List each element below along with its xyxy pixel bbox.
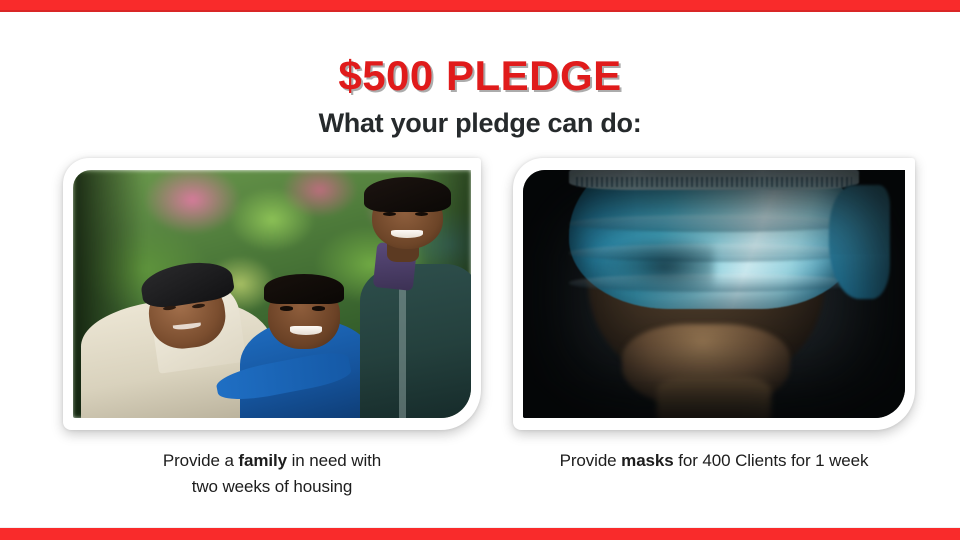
slide-root: $500 PLEDGE What your pledge can do: (0, 0, 960, 540)
caption-masks-keyword: masks (621, 451, 673, 470)
boy-eye-right (312, 306, 326, 310)
caption-masks-text1: Provide (560, 451, 622, 470)
boy-smile (290, 326, 322, 334)
caption-family: Provide a family in need with two weeks … (63, 448, 481, 501)
boy-eye-left (280, 306, 294, 310)
photo-card-masks[interactable] (513, 158, 915, 430)
bottom-red-band (0, 527, 960, 540)
caption-family-text2: in need with (287, 451, 381, 470)
caption-family-keyword: family (238, 451, 287, 470)
girl-zipper (399, 289, 405, 418)
girl-hair (364, 177, 452, 212)
girl-jacket (360, 264, 471, 418)
top-red-band (0, 0, 960, 12)
photo-family (73, 170, 471, 418)
page-subtitle: What your pledge can do: (0, 108, 960, 139)
caption-masks: Provide masks for 400 Clients for 1 week (513, 448, 915, 474)
boy-hair (264, 274, 344, 304)
vignette (523, 170, 905, 418)
caption-masks-text2: for 400 Clients for 1 week (674, 451, 869, 470)
photo-card-family[interactable] (63, 158, 481, 430)
girl-smile (391, 230, 423, 238)
photo-masks (523, 170, 905, 418)
caption-family-text1: Provide a (163, 451, 239, 470)
caption-family-line2: two weeks of housing (192, 477, 353, 496)
page-title: $500 PLEDGE (0, 55, 960, 97)
